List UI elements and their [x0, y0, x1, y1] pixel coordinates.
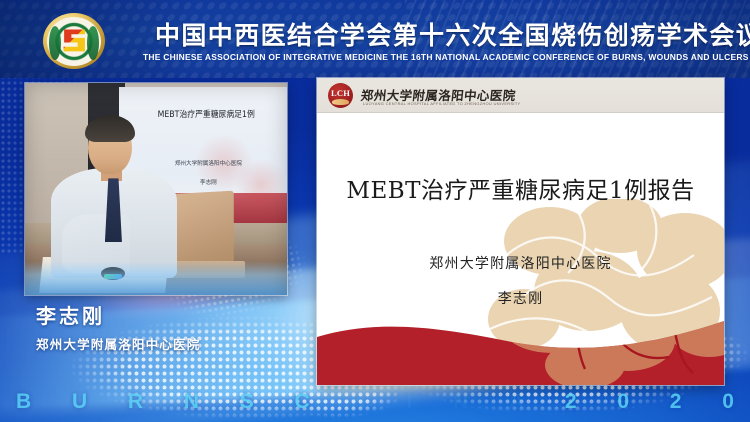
conference-title-cn: 中国中西医结合学会第十六次全国烧伤创疡学术会议 — [155, 16, 740, 52]
speaker-name: 李志刚 — [36, 300, 286, 329]
wordmark-letter: R — [128, 390, 143, 414]
wordmark-letter: C — [295, 390, 310, 414]
slide-body: MEBT治疗严重糖尿病足1例报告 郑州大学附属洛阳中心医院 李志刚 — [317, 113, 724, 385]
slide-header-bar: LCH 郑州大学附属洛阳中心医院 LUOYANG CENTRAL HOSPITA… — [317, 78, 724, 113]
presentation-slide[interactable]: LCH 郑州大学附属洛阳中心医院 LUOYANG CENTRAL HOSPITA… — [317, 78, 724, 385]
broadcast-stage: 中国中西医结合学会第十六次全国烧伤创疡学术会议 THE CHINESE ASSO… — [0, 0, 750, 422]
slide-presenter: 李志刚 — [317, 288, 724, 308]
wordmark-letter: B — [16, 390, 31, 414]
slide-title: MEBT治疗严重糖尿病足1例报告 — [317, 171, 724, 205]
conference-header-banner: 中国中西医结合学会第十六次全国烧伤创疡学术会议 THE CHINESE ASSO… — [0, 0, 750, 78]
bottom-wordmark: BURNSCHINA2020 — [0, 390, 750, 414]
slide-red-wave — [317, 307, 724, 385]
wordmark-letter: N — [184, 390, 199, 414]
wordmark-letter: 2 — [565, 390, 577, 414]
hospital-logo-text: LCH — [328, 88, 353, 98]
wordmark-letter: 0 — [617, 390, 629, 414]
wordmark-letter: I — [406, 390, 412, 414]
hospital-logo-icon: LCH — [328, 83, 353, 108]
conference-title-en: THE CHINESE ASSOCIATION OF INTEGRATIVE M… — [143, 52, 734, 62]
wordmark-letter: N — [453, 390, 468, 414]
wordmark-letter: 0 — [722, 390, 734, 414]
wordmark-letter: U — [72, 390, 87, 414]
wordmark-letter: S — [240, 390, 254, 414]
video-vignette — [25, 83, 287, 295]
speaker-affiliation: 郑州大学附属洛阳中心医院 — [36, 334, 286, 353]
wordmark-letter: H — [350, 390, 365, 414]
speaker-video-feed[interactable]: MEBT治疗严重糖尿病足1例 郑州大学附属洛阳中心医院 李志刚 — [25, 83, 287, 295]
slide-affiliation: 郑州大学附属洛阳中心医院 — [317, 253, 724, 273]
slide-hospital-name-en: LUOYANG CENTRAL HOSPITAL AFFILIATED TO Z… — [363, 101, 521, 106]
wordmark-letter: A — [509, 390, 524, 414]
association-emblem-icon — [43, 13, 105, 69]
lower-third-name-block: 李志刚 郑州大学附属洛阳中心医院 — [36, 300, 286, 353]
wordmark-letter: 2 — [670, 390, 682, 414]
